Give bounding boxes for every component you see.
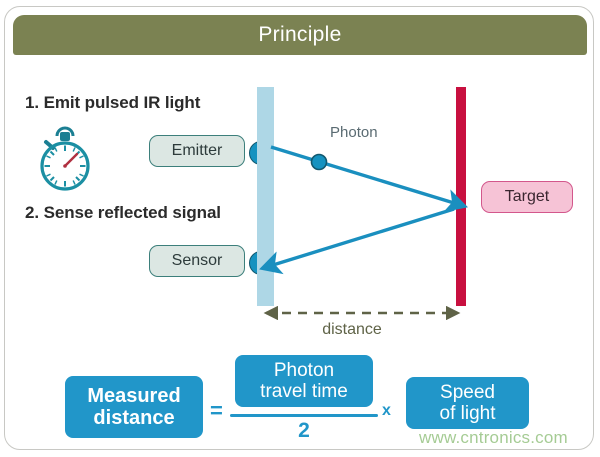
sensor-box: Sensor [149, 245, 245, 277]
principle-card: Principle 1. Emit pulsed IR light 2. Sen… [4, 6, 594, 450]
emitter-label: Emitter [172, 142, 223, 160]
watermark: www.cntronics.com [419, 428, 568, 448]
photon-travel-time-box: Photon travel time [235, 355, 373, 407]
speed-of-light-line-1: Speed [440, 382, 495, 403]
speed-of-light-line-2: of light [440, 403, 496, 424]
target-wall [456, 87, 466, 306]
photon-travel-time-line-1: Photon [274, 360, 334, 381]
step-1-label: 1. Emit pulsed IR light [25, 93, 200, 113]
photon-travel-time-line-2: travel time [260, 381, 348, 402]
measured-distance-line-1: Measured [87, 385, 180, 407]
emitter-box: Emitter [149, 135, 245, 167]
measured-distance-line-2: distance [93, 407, 174, 429]
step-2-label: 2. Sense reflected signal [25, 203, 221, 223]
device-wall [257, 87, 274, 306]
photon-label: Photon [330, 124, 378, 141]
card-header: Principle [13, 15, 587, 55]
equals-operator: = [210, 398, 223, 424]
page-title: Principle [258, 23, 341, 47]
sensor-label: Sensor [172, 252, 223, 270]
screenshot-root: Principle 1. Emit pulsed IR light 2. Sen… [0, 0, 600, 457]
target-box: Target [481, 181, 573, 213]
multiply-operator: x [382, 402, 391, 420]
diagram-area: 1. Emit pulsed IR light 2. Sense reflect… [13, 63, 587, 348]
fraction-bar [230, 414, 378, 417]
distance-label: distance [322, 321, 382, 339]
measured-distance-box: Measured distance [65, 376, 203, 438]
target-label: Target [505, 188, 549, 206]
stopwatch-icon [31, 125, 99, 193]
speed-of-light-box: Speed of light [406, 377, 529, 429]
fraction-denominator: 2 [298, 419, 310, 443]
